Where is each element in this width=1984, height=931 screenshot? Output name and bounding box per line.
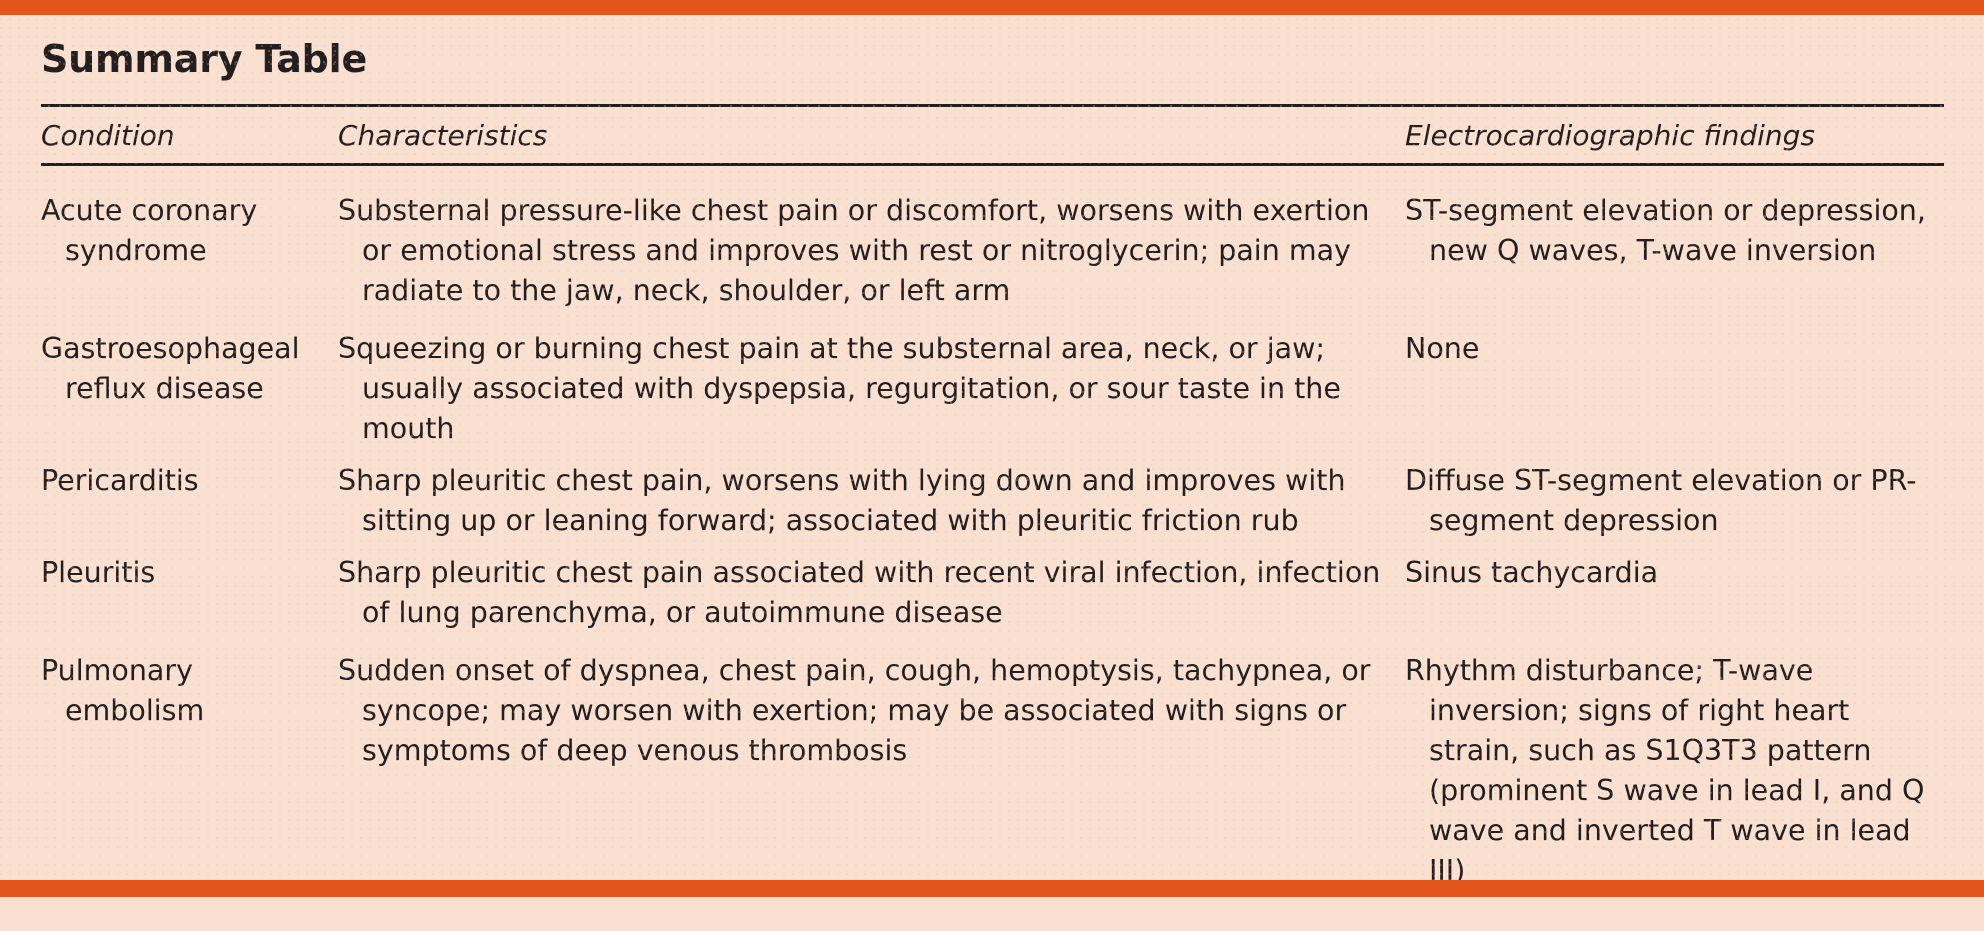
cell-characteristics: Sharp pleuritic chest pain, worsens with… <box>338 449 1405 541</box>
table-row: Pericarditis Sharp pleuritic chest pain,… <box>41 449 1944 541</box>
table-row: Acute coronary syndrome Substernal press… <box>41 173 1944 311</box>
page-title: Summary Table <box>41 37 367 81</box>
cell-characteristics: Substernal pressure-like chest pain or d… <box>338 173 1405 311</box>
column-header-electrocardiographic-findings: Electrocardiographic findings <box>1405 119 1815 152</box>
cell-ecg-findings: Sinus tachycardia <box>1405 541 1944 633</box>
cell-ecg-findings: None <box>1405 311 1944 449</box>
cell-ecg-findings: Diffuse ST-segment elevation or PR-segme… <box>1405 449 1944 541</box>
bottom-accent-bar <box>0 880 1984 897</box>
table-header-rule <box>41 163 1944 166</box>
cell-characteristics: Squeezing or burning chest pain at the s… <box>338 311 1405 449</box>
column-header-characteristics: Characteristics <box>338 119 547 152</box>
cell-condition: Pericarditis <box>41 449 338 541</box>
column-header-condition: Condition <box>41 119 175 152</box>
table-row: Gastroesophageal reflux disease Squeezin… <box>41 311 1944 449</box>
cell-ecg-findings: ST-segment elevation or depression, new … <box>1405 173 1944 311</box>
cell-condition: Pleuritis <box>41 541 338 633</box>
table-row: Pleuritis Sharp pleuritic chest pain ass… <box>41 541 1944 633</box>
summary-table: Acute coronary syndrome Substernal press… <box>41 173 1944 931</box>
summary-table-sheet: Summary Table Condition Characteristics … <box>0 15 1984 880</box>
top-accent-bar <box>0 0 1984 15</box>
cell-condition: Acute coronary syndrome <box>41 173 338 311</box>
table-top-rule <box>41 104 1944 107</box>
cell-characteristics: Sharp pleuritic chest pain associated wi… <box>338 541 1405 633</box>
cell-condition: Gastroesophageal reflux disease <box>41 311 338 449</box>
